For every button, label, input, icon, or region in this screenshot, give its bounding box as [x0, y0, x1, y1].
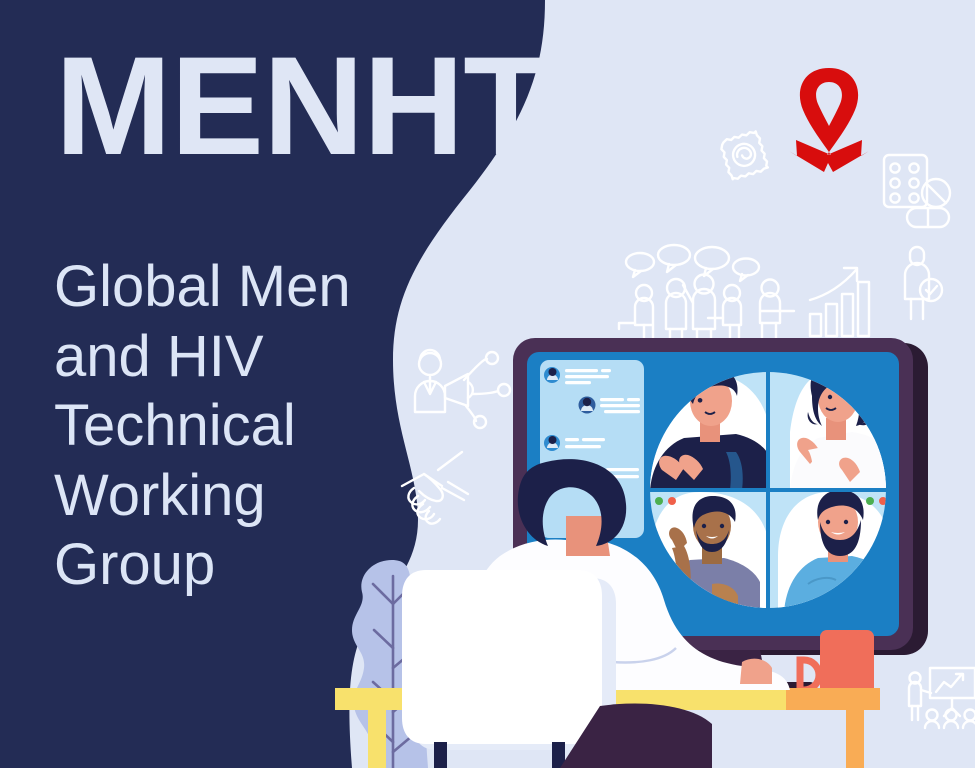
- status-dot-green: [655, 497, 663, 505]
- desk-leg-left: [368, 708, 386, 768]
- desk-leg-right: [846, 708, 864, 768]
- status-dot-red: [668, 497, 676, 505]
- poster-illustration: [0, 0, 975, 768]
- desk-top-right: [786, 688, 880, 710]
- chat-panel: [540, 360, 644, 538]
- chair-leg-left: [434, 742, 447, 768]
- poster-canvas: MENHT MENHT Global Men and HIV Technical…: [0, 0, 975, 768]
- status-dot-green: [866, 497, 874, 505]
